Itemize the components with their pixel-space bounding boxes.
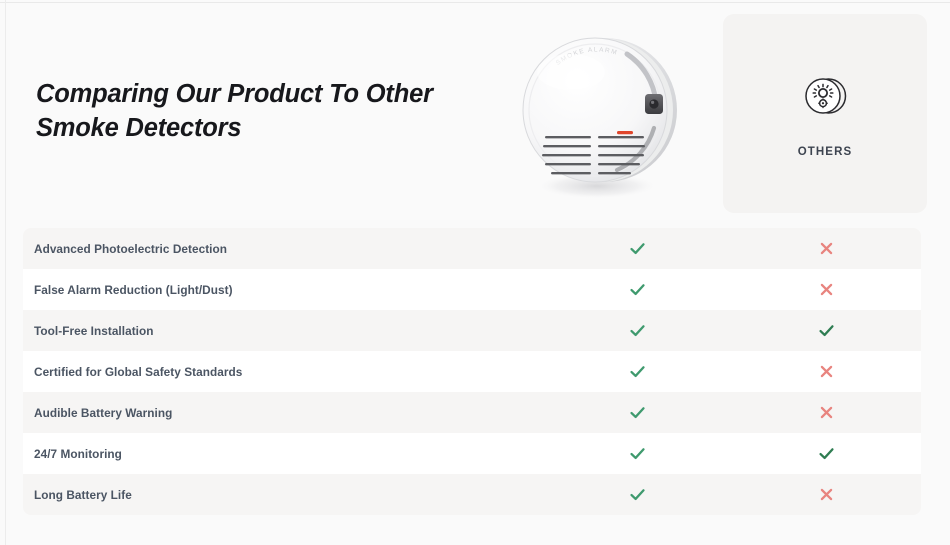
check-icon	[817, 321, 836, 340]
feature-label: Tool-Free Installation	[23, 324, 543, 338]
check-icon	[817, 444, 836, 463]
cross-icon	[817, 239, 836, 258]
check-icon	[628, 485, 647, 504]
table-row: Audible Battery Warning	[23, 392, 921, 433]
check-icon	[628, 444, 647, 463]
others-cell	[732, 321, 921, 340]
feature-label: Long Battery Life	[23, 488, 543, 502]
check-icon	[628, 362, 647, 381]
table-row: 24/7 Monitoring	[23, 433, 921, 474]
ours-cell	[543, 444, 732, 463]
cross-icon	[817, 485, 836, 504]
others-cell	[732, 280, 921, 299]
table-row: Tool-Free Installation	[23, 310, 921, 351]
check-icon	[628, 321, 647, 340]
check-icon	[628, 280, 647, 299]
ours-cell	[543, 485, 732, 504]
cross-icon	[817, 280, 836, 299]
page-title-line-2: Smoke Detectors	[36, 114, 241, 142]
feature-label: 24/7 Monitoring	[23, 447, 543, 461]
ours-cell	[543, 239, 732, 258]
table-row: Certified for Global Safety Standards	[23, 351, 921, 392]
feature-label: Certified for Global Safety Standards	[23, 365, 543, 379]
ours-cell	[543, 362, 732, 381]
table-row: Long Battery Life	[23, 474, 921, 515]
others-column-header: OTHERS	[723, 14, 927, 213]
cross-icon	[817, 362, 836, 381]
cross-icon	[817, 403, 836, 422]
hero-section: Comparing Our Product To Other Smoke Det…	[0, 0, 950, 225]
comparison-table: Advanced Photoelectric Detection False A…	[23, 228, 921, 515]
feature-label: Audible Battery Warning	[23, 406, 543, 420]
product-photo: SMOKE ALARM	[505, 18, 695, 208]
ours-cell	[543, 403, 732, 422]
feature-label: False Alarm Reduction (Light/Dust)	[23, 283, 543, 297]
smoke-detector-line-icon	[799, 70, 851, 122]
comparison-page: Comparing Our Product To Other Smoke Det…	[0, 0, 950, 545]
page-title: Comparing Our Product To Other Smoke Det…	[36, 78, 466, 146]
table-row: Advanced Photoelectric Detection	[23, 228, 921, 269]
page-title-line-1: Comparing Our Product To Other	[36, 80, 433, 108]
check-icon	[628, 239, 647, 258]
others-cell	[732, 485, 921, 504]
others-cell	[732, 444, 921, 463]
feature-label: Advanced Photoelectric Detection	[23, 242, 543, 256]
others-cell	[732, 403, 921, 422]
ours-cell	[543, 321, 732, 340]
table-row: False Alarm Reduction (Light/Dust)	[23, 269, 921, 310]
ours-cell	[543, 280, 732, 299]
others-cell	[732, 239, 921, 258]
others-column-label: OTHERS	[798, 146, 853, 158]
check-icon	[628, 403, 647, 422]
others-cell	[732, 362, 921, 381]
